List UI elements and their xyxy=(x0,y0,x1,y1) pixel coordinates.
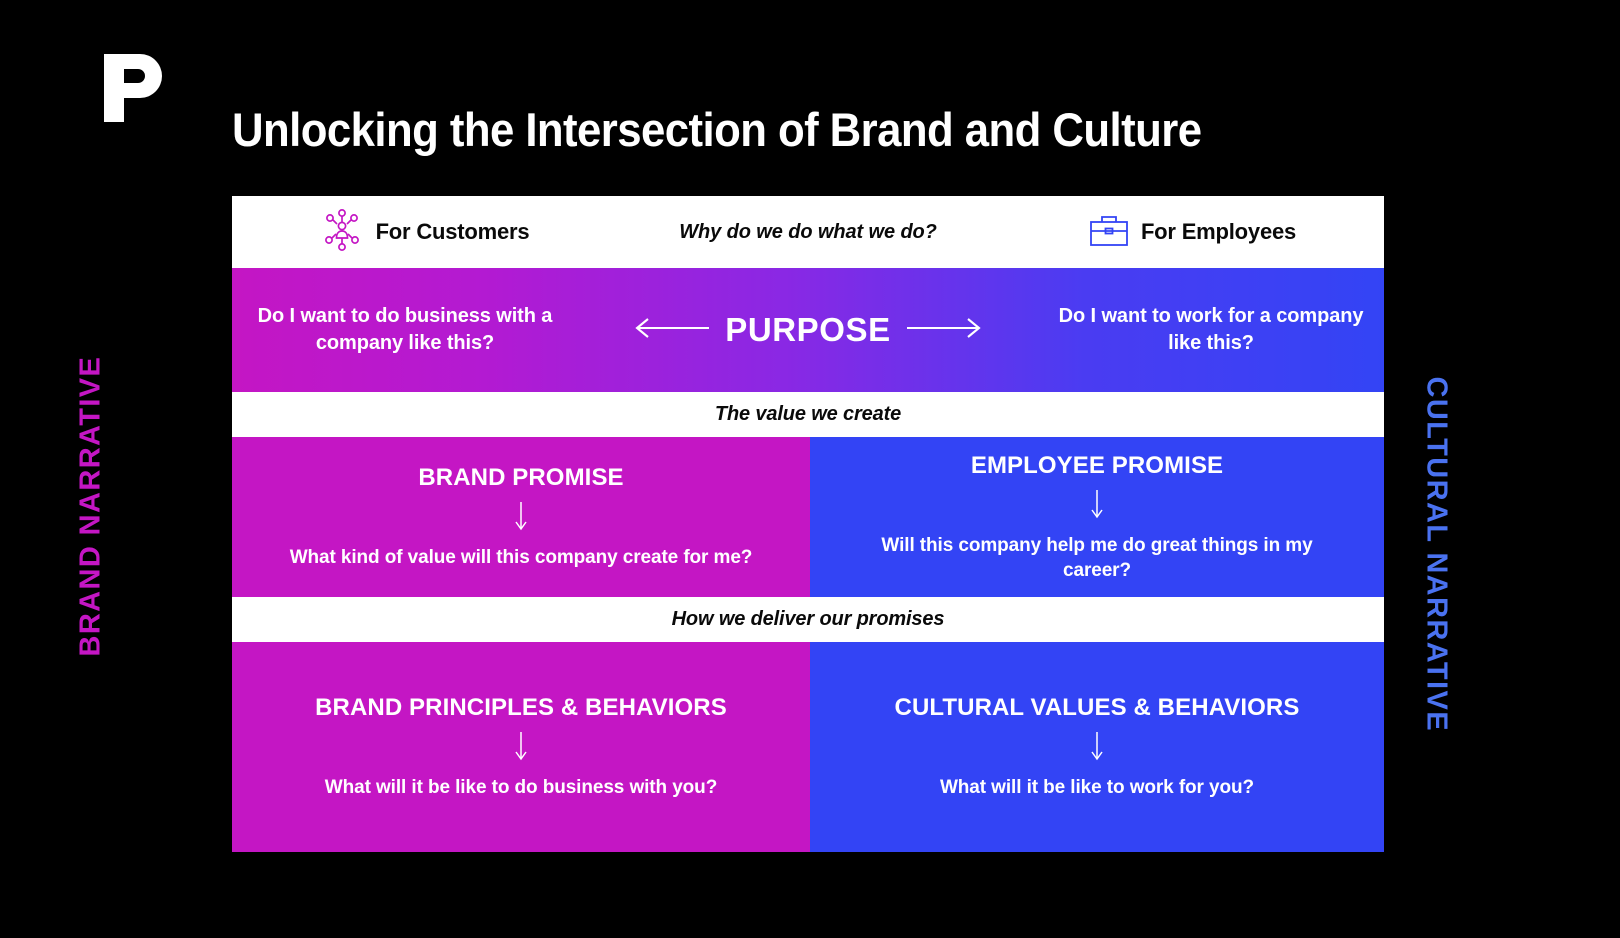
page-title: Unlocking the Intersection of Brand and … xyxy=(232,102,1311,157)
header-cell-middle: Why do we do what we do? xyxy=(616,221,1000,244)
brand-logo-p xyxy=(100,52,172,124)
network-people-icon xyxy=(319,207,365,258)
cultural-values-question: What will it be like to work for you? xyxy=(940,776,1254,801)
purpose-left-cell: Do I want to do business with a company … xyxy=(232,303,578,356)
slide-canvas: Unlocking the Intersection of Brand and … xyxy=(0,0,1620,938)
arrow-left-icon xyxy=(633,315,711,346)
arrow-down-icon xyxy=(1090,489,1104,524)
employee-promise-title: EMPLOYEE PROMISE xyxy=(971,451,1223,480)
arrow-right-icon xyxy=(905,315,983,346)
purpose-title: PURPOSE xyxy=(725,311,891,349)
header-cell-employees: For Employees xyxy=(1000,213,1384,252)
side-label-cultural-narrative: CULTURAL NARRATIVE xyxy=(1420,377,1453,707)
header-cell-customers: For Customers xyxy=(232,207,616,258)
brand-culture-matrix: For Customers Why do we do what we do? xyxy=(232,196,1384,852)
header-middle-question: Why do we do what we do? xyxy=(679,221,937,244)
purpose-center-cell: PURPOSE xyxy=(578,311,1038,349)
separator-text-deliver: How we deliver our promises xyxy=(672,608,945,631)
principles-row: BRAND PRINCIPLES & BEHAVIORS What will i… xyxy=(232,642,1384,852)
purpose-row: Do I want to do business with a company … xyxy=(232,268,1384,392)
purpose-left-question: Do I want to do business with a company … xyxy=(250,303,560,356)
cell-brand-promise: BRAND PROMISE What kind of value will th… xyxy=(232,437,810,597)
brand-principles-title: BRAND PRINCIPLES & BEHAVIORS xyxy=(315,693,727,722)
side-label-brand-narrative: BRAND NARRATIVE xyxy=(75,357,108,657)
cell-employee-promise: EMPLOYEE PROMISE Will this company help … xyxy=(810,437,1384,597)
cultural-values-title: CULTURAL VALUES & BEHAVIORS xyxy=(895,693,1300,722)
arrow-down-icon xyxy=(514,731,528,766)
brand-principles-question: What will it be like to do business with… xyxy=(325,776,717,801)
separator-row-value: The value we create xyxy=(232,392,1384,437)
separator-text-value: The value we create xyxy=(715,403,901,426)
arrow-down-icon xyxy=(514,501,528,536)
employee-promise-question: Will this company help me do great thing… xyxy=(850,534,1344,583)
brand-promise-title: BRAND PROMISE xyxy=(418,463,623,492)
arrow-down-icon xyxy=(1090,731,1104,766)
separator-row-deliver: How we deliver our promises xyxy=(232,597,1384,642)
matrix-header-row: For Customers Why do we do what we do? xyxy=(232,196,1384,268)
cell-brand-principles: BRAND PRINCIPLES & BEHAVIORS What will i… xyxy=(232,642,810,852)
brand-promise-question: What kind of value will this company cre… xyxy=(290,546,753,571)
purpose-right-cell: Do I want to work for a company like thi… xyxy=(1038,303,1384,356)
header-label-employees: For Employees xyxy=(1141,219,1296,245)
cell-cultural-values: CULTURAL VALUES & BEHAVIORS What will it… xyxy=(810,642,1384,852)
purpose-right-question: Do I want to work for a company like thi… xyxy=(1056,303,1366,356)
promise-row: BRAND PROMISE What kind of value will th… xyxy=(232,437,1384,597)
briefcase-icon xyxy=(1088,213,1130,252)
header-label-customers: For Customers xyxy=(376,219,530,245)
